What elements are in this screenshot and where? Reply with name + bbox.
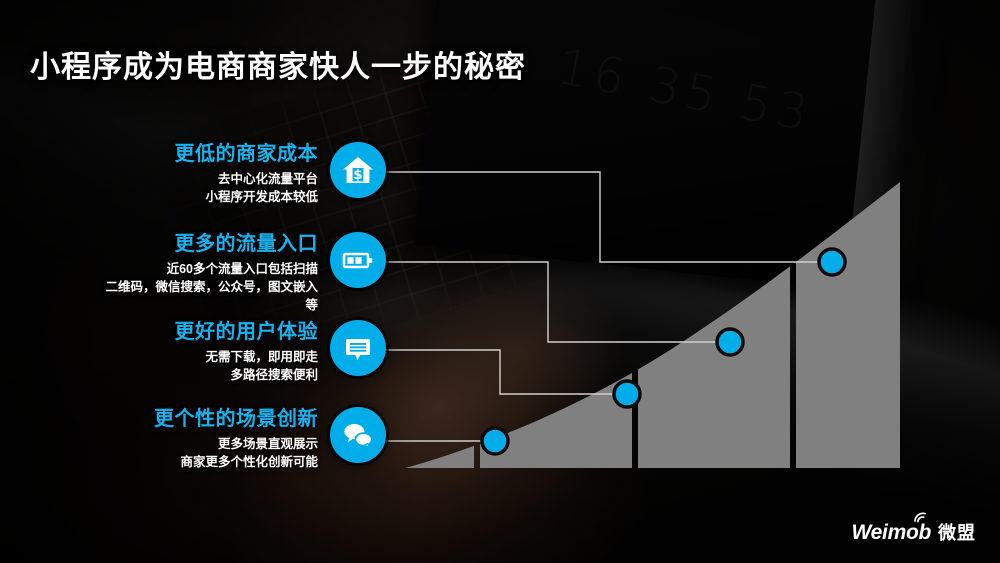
feature-description-line: 去中心化流量平台 bbox=[48, 170, 318, 188]
feature-description-line: 小程序开发成本较低 bbox=[48, 188, 318, 206]
feature-description: 近60多个流量入口包括扫描 二维码，微信搜索，公众号，图文嵌入 等 bbox=[48, 260, 318, 314]
chart-marker-dot bbox=[482, 428, 508, 454]
page-title: 小程序成为电商商家快人一步的秘密 bbox=[30, 42, 526, 86]
logo-text-cn: 微盟 bbox=[938, 519, 976, 545]
feature-text-block: 更低的商家成本 去中心化流量平台 小程序开发成本较低 bbox=[48, 142, 330, 206]
feature-title: 更低的商家成本 bbox=[48, 142, 318, 166]
feature-item-better-experience[interactable]: 更好的用户体验 无需下载，即用即走 多路径搜索便利 bbox=[48, 320, 386, 384]
feature-title: 更个性的场景创新 bbox=[48, 407, 318, 431]
chart-marker-dot bbox=[614, 381, 640, 407]
feature-text-block: 更多的流量入口 近60多个流量入口包括扫描 二维码，微信搜索，公众号，图文嵌入 … bbox=[48, 232, 330, 314]
feature-title: 更好的用户体验 bbox=[48, 320, 318, 344]
logo-text-en: Weimob bbox=[852, 521, 931, 545]
feature-description-line: 近60多个流量入口包括扫描 bbox=[48, 260, 318, 278]
feature-description-line: 商家更多个性化创新可能 bbox=[48, 453, 318, 471]
weimob-logo: Weimob 微盟 bbox=[852, 519, 976, 545]
house-dollar-icon[interactable]: $ bbox=[330, 142, 386, 198]
chart-bar bbox=[796, 150, 948, 468]
presentation-slide: 16 35 53 bbox=[0, 0, 1000, 563]
feature-text-block: 更好的用户体验 无需下载，即用即走 多路径搜索便利 bbox=[48, 320, 330, 384]
feature-description-line: 二维码，微信搜索，公众号，图文嵌入 bbox=[48, 278, 318, 296]
feature-description-line: 无需下载，即用即走 bbox=[48, 348, 318, 366]
connector-line bbox=[380, 172, 832, 262]
feature-title: 更多的流量入口 bbox=[48, 232, 318, 256]
chart-bar bbox=[480, 150, 632, 468]
feature-item-scenario-innovation[interactable]: 更个性的场景创新 更多场景直观展示 商家更多个性化创新可能 bbox=[48, 407, 386, 471]
feature-description-line: 更多场景直观展示 bbox=[48, 435, 318, 453]
svg-text:$: $ bbox=[353, 167, 362, 183]
feature-description-line: 多路径搜索便利 bbox=[48, 366, 318, 384]
logo-en-label: Weimob bbox=[852, 521, 931, 544]
feature-description: 去中心化流量平台 小程序开发成本较低 bbox=[48, 170, 318, 206]
feature-description-line: 等 bbox=[48, 296, 318, 314]
two-chat-bubbles-icon[interactable] bbox=[330, 407, 386, 463]
chart-marker-dot bbox=[819, 249, 845, 275]
connector-line bbox=[380, 262, 730, 342]
feature-item-lower-cost[interactable]: 更低的商家成本 去中心化流量平台 小程序开发成本较低 $ bbox=[48, 142, 386, 206]
chart-bar bbox=[638, 150, 790, 468]
wifi-arc-icon bbox=[913, 512, 929, 523]
battery-icon[interactable] bbox=[330, 232, 386, 288]
feature-description: 更多场景直观展示 商家更多个性化创新可能 bbox=[48, 435, 318, 471]
message-lines-icon[interactable] bbox=[330, 320, 386, 376]
chart-marker-dot bbox=[717, 329, 743, 355]
feature-text-block: 更个性的场景创新 更多场景直观展示 商家更多个性化创新可能 bbox=[48, 407, 330, 471]
feature-description: 无需下载，即用即走 多路径搜索便利 bbox=[48, 348, 318, 384]
feature-item-more-entries[interactable]: 更多的流量入口 近60多个流量入口包括扫描 二维码，微信搜索，公众号，图文嵌入 … bbox=[48, 232, 386, 314]
